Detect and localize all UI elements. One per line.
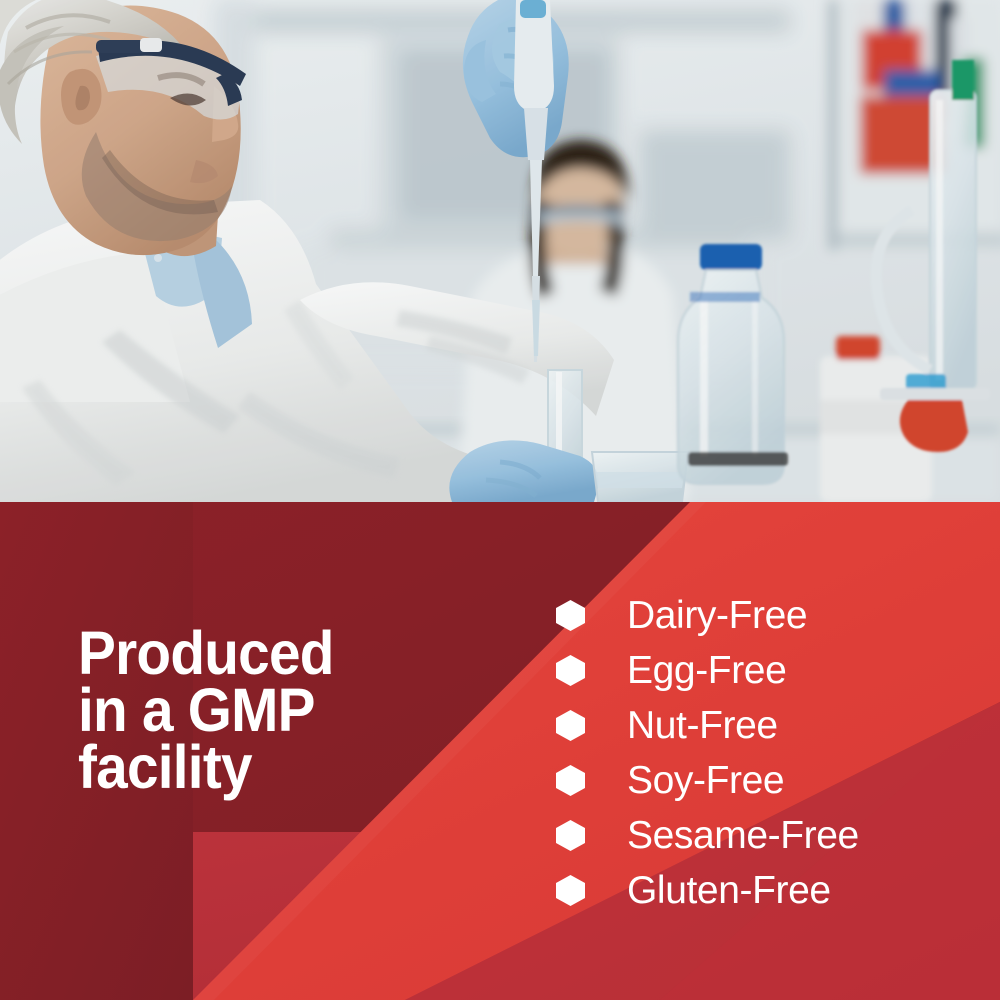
claim-label: Sesame-Free <box>627 816 859 855</box>
list-item: Egg-Free <box>556 643 859 698</box>
list-item: Nut-Free <box>556 698 859 753</box>
claims-panel: Produced in a GMP facility Dairy-Free Eg… <box>0 502 1000 1000</box>
claim-label: Nut-Free <box>627 706 778 745</box>
page-title: Produced in a GMP facility <box>78 625 478 796</box>
claim-label: Dairy-Free <box>627 596 807 635</box>
hexagon-bullet-icon <box>556 765 585 796</box>
list-item: Sesame-Free <box>556 808 859 863</box>
gmp-facility-banner: Produced in a GMP facility Dairy-Free Eg… <box>0 0 1000 1000</box>
list-item: Soy-Free <box>556 753 859 808</box>
claim-label: Gluten-Free <box>627 871 831 910</box>
headline-line-3: facility <box>78 739 478 796</box>
hexagon-bullet-icon <box>556 655 585 686</box>
list-item: Dairy-Free <box>556 588 859 643</box>
hexagon-bullet-icon <box>556 710 585 741</box>
hexagon-bullet-icon <box>556 875 585 906</box>
list-item: Gluten-Free <box>556 863 859 918</box>
claim-label: Egg-Free <box>627 651 786 690</box>
headline-line-2: in a GMP <box>78 682 478 739</box>
laboratory-photo <box>0 0 1000 502</box>
headline-line-1: Produced <box>78 625 478 682</box>
claim-label: Soy-Free <box>627 761 784 800</box>
hexagon-bullet-icon <box>556 820 585 851</box>
allergen-free-claims-list: Dairy-Free Egg-Free Nut-Free Soy-Free <box>556 588 859 918</box>
hexagon-bullet-icon <box>556 600 585 631</box>
